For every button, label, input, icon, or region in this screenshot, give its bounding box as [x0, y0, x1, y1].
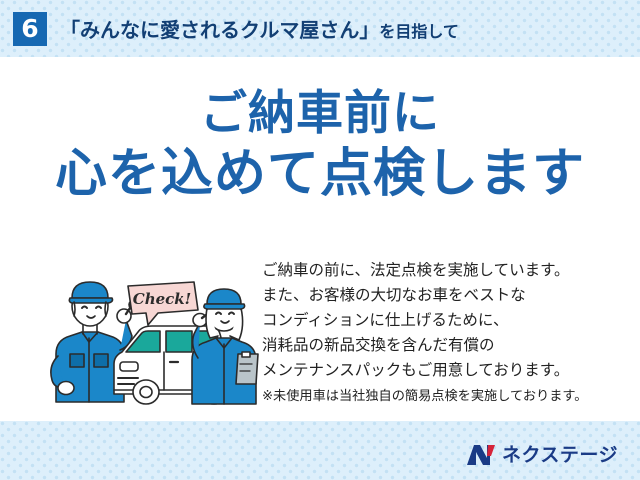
nextage-n-mark-icon — [466, 444, 496, 466]
body-copy: ご納車の前に、法定点検を実施しています。 また、お客様の大切なお車をベストな コ… — [262, 258, 632, 407]
headline-line-1: ご納車前に — [0, 88, 640, 141]
body-line-2: また、お客様の大切なお車をベストな — [262, 283, 632, 308]
body-line-5: メンテナンスパックもご用意しております。 — [262, 358, 632, 383]
header-title: 「みんなに愛されるクルマ屋さん」を目指して — [60, 14, 459, 43]
check-bubble-label: Check! — [133, 290, 192, 308]
headline: ご納車前に 心を込めて点検します — [0, 88, 640, 203]
banner-root: 6 「みんなに愛されるクルマ屋さん」を目指して ご納車前に 心を込めて点検します… — [0, 0, 640, 480]
body-note: ※未使用車は当社独自の簡易点検を実施しております。 — [262, 386, 632, 407]
header-title-quoted: 「みんなに愛されるクルマ屋さん」 — [60, 18, 379, 42]
body-line-1: ご納車の前に、法定点検を実施しています。 — [262, 258, 632, 283]
header-title-suffix: を目指して — [379, 22, 459, 41]
brand-logo-text: ネクステージ — [502, 446, 618, 465]
body-line-4: 消耗品の新品交換を含んだ有償の — [262, 333, 632, 358]
headline-line-2: 心を込めて点検します — [0, 145, 640, 203]
mechanics-and-van-illustration: Check! — [42, 268, 260, 408]
mechanic-right — [192, 289, 258, 404]
brand-logo: ネクステージ — [466, 444, 618, 466]
header: 6 「みんなに愛されるクルマ屋さん」を目指して — [0, 0, 640, 57]
body-line-3: コンディションに仕上げるために、 — [262, 308, 632, 333]
section-number-badge: 6 — [13, 12, 47, 46]
